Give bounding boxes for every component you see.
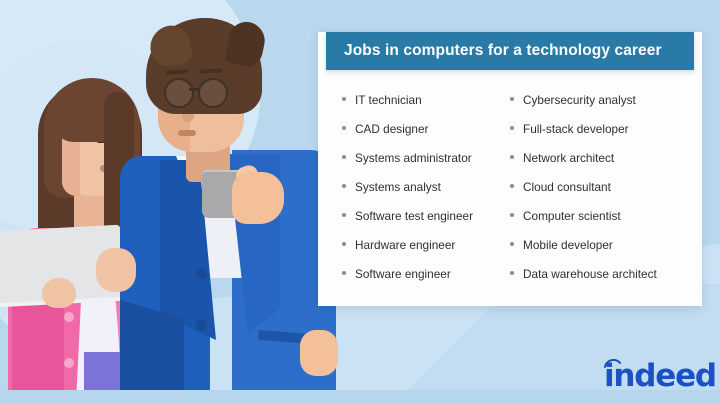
- list-item-label: CAD designer: [355, 115, 428, 144]
- man-lips: [178, 130, 196, 136]
- list-item[interactable]: Software engineer: [342, 260, 504, 289]
- list-item-label: Network architect: [523, 144, 614, 173]
- list-item-label: Software test engineer: [355, 202, 473, 231]
- indeed-logo-arc-icon: [604, 357, 622, 369]
- list-item-label: Computer scientist: [523, 202, 621, 231]
- list-item[interactable]: Hardware engineer: [342, 231, 504, 260]
- list-item[interactable]: Data warehouse architect: [510, 260, 702, 289]
- bullet-icon: [510, 184, 514, 188]
- bullet-icon: [342, 242, 346, 246]
- man-glasses-lens-right: [198, 78, 228, 108]
- woman-blazer-button: [64, 312, 74, 322]
- list-item-label: Mobile developer: [523, 231, 613, 260]
- list-item[interactable]: Systems administrator: [342, 144, 504, 173]
- man-glasses-bridge: [189, 88, 200, 91]
- card-body: IT technician CAD designer Systems admin…: [318, 70, 702, 306]
- list-item-label: Cloud consultant: [523, 173, 611, 202]
- indeed-logo[interactable]: indeed: [604, 358, 704, 394]
- bullet-icon: [342, 213, 346, 217]
- man-glasses-lens-left: [164, 78, 194, 108]
- bullet-icon: [510, 155, 514, 159]
- bullet-icon: [510, 126, 514, 130]
- bullet-icon: [342, 97, 346, 101]
- bullet-icon: [342, 184, 346, 188]
- list-item-label: Full-stack developer: [523, 115, 629, 144]
- list-item[interactable]: Mobile developer: [510, 231, 702, 260]
- list-item-label: Software engineer: [355, 260, 451, 289]
- man-hand-lower: [300, 330, 338, 376]
- list-item-label: Cybersecurity analyst: [523, 86, 636, 115]
- list-item[interactable]: CAD designer: [342, 115, 504, 144]
- woman-hand-on-laptop: [42, 278, 76, 308]
- jobs-column-left: IT technician CAD designer Systems admin…: [318, 86, 504, 306]
- slide-canvas: Jobs in computers for a technology caree…: [0, 0, 720, 404]
- list-item[interactable]: Software test engineer: [342, 202, 504, 231]
- list-item[interactable]: Network architect: [510, 144, 702, 173]
- list-item-label: Hardware engineer: [355, 231, 455, 260]
- bullet-icon: [342, 126, 346, 130]
- bullet-icon: [510, 242, 514, 246]
- bullet-icon: [510, 97, 514, 101]
- list-item[interactable]: IT technician: [342, 86, 504, 115]
- page-title: Jobs in computers for a technology caree…: [344, 42, 662, 60]
- list-item-label: IT technician: [355, 86, 422, 115]
- bullet-icon: [510, 213, 514, 217]
- list-item-label: Systems analyst: [355, 173, 441, 202]
- list-item[interactable]: Full-stack developer: [510, 115, 702, 144]
- list-item[interactable]: Systems analyst: [342, 173, 504, 202]
- woman-blazer-button: [64, 358, 74, 368]
- list-item[interactable]: Computer scientist: [510, 202, 702, 231]
- card-title-bar: Jobs in computers for a technology caree…: [326, 32, 694, 70]
- bullet-icon: [342, 155, 346, 159]
- bullet-icon: [510, 271, 514, 275]
- list-item[interactable]: Cloud consultant: [510, 173, 702, 202]
- list-item-label: Data warehouse architect: [523, 260, 657, 289]
- woman-hand-raised: [96, 248, 136, 292]
- list-item[interactable]: Cybersecurity analyst: [510, 86, 702, 115]
- man-jacket-button: [196, 268, 207, 279]
- bullet-icon: [342, 271, 346, 275]
- man-hand-holding-mug: [232, 172, 284, 224]
- jobs-column-right: Cybersecurity analyst Full-stack develop…: [504, 86, 702, 306]
- man-jacket-button: [196, 320, 207, 331]
- list-item-label: Systems administrator: [355, 144, 472, 173]
